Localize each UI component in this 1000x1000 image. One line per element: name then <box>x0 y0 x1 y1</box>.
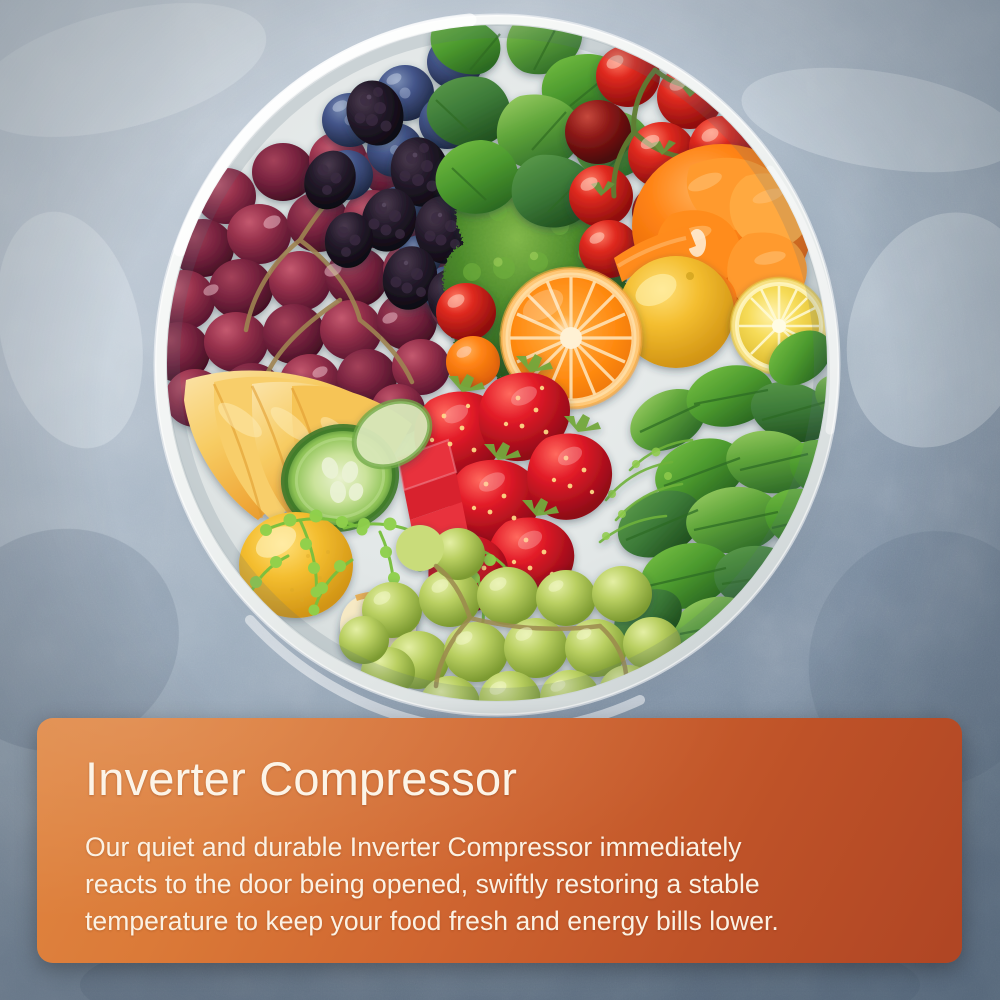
card-body-line-2: reacts to the door being opened, swiftly… <box>85 866 914 903</box>
banner-stage: Inverter Compressor Our quiet and durabl… <box>0 0 1000 1000</box>
card-body-line-1: Our quiet and durable Inverter Compresso… <box>85 829 914 866</box>
page-title: Inverter Compressor <box>85 754 914 803</box>
feature-caption-card: Inverter Compressor Our quiet and durabl… <box>37 718 962 963</box>
card-body-line-3: temperature to keep your food fresh and … <box>85 903 914 940</box>
